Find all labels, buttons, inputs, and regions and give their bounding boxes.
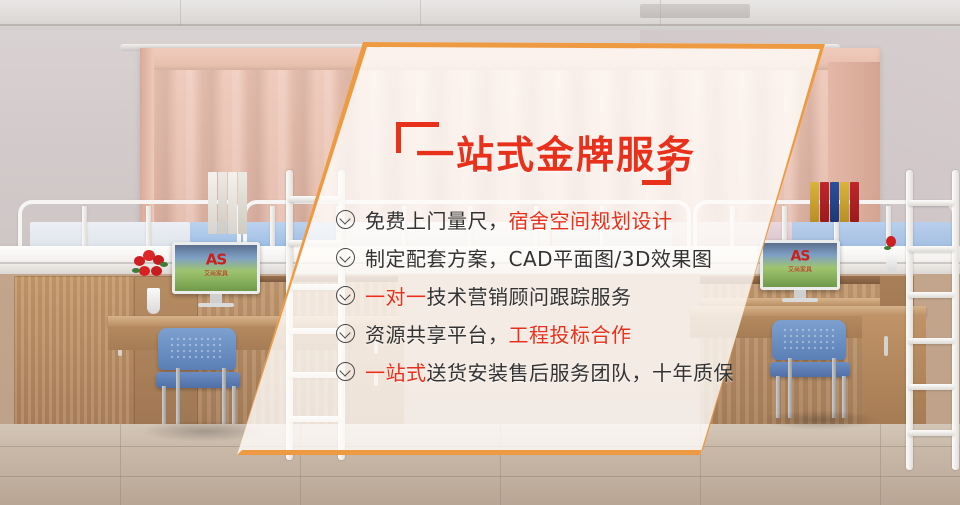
list-item-plain-prefix: 免费上门量尺， <box>365 209 509 233</box>
list-item-plain-prefix: 制定配套方案，CAD平面图/3D效果图 <box>365 247 712 271</box>
page-title: 一站式金牌服务 <box>416 124 696 179</box>
list-item-highlight: 宿舍空间规划设计 <box>509 209 673 233</box>
list-item-text: 制定配套方案，CAD平面图/3D效果图 <box>365 243 712 272</box>
list-item-text: 一站式送货安装售后服务团队，十年质保 <box>365 357 734 386</box>
list-item: 免费上门量尺，宿舍空间规划设计 <box>336 200 756 238</box>
chevron-down-circle-icon <box>336 248 355 267</box>
list-item: 资源共享平台，工程投标合作 <box>336 314 756 352</box>
list-item-highlight: 一站式 <box>365 361 427 385</box>
service-list: 免费上门量尺，宿舍空间规划设计 制定配套方案，CAD平面图/3D效果图 一对一技… <box>336 200 756 390</box>
promo-banner: AS 艾尚家具 <box>0 0 960 505</box>
list-item-text: 一对一技术营销顾问跟踪服务 <box>365 281 632 310</box>
list-item-highlight: 工程投标合作 <box>509 323 632 347</box>
chevron-down-circle-icon <box>336 286 355 305</box>
title-block: 一站式金牌服务 <box>396 122 676 186</box>
list-item: 一站式送货安装售后服务团队，十年质保 <box>336 352 756 390</box>
list-item-plain-suffix: 技术营销顾问跟踪服务 <box>427 285 632 309</box>
list-item-text: 资源共享平台，工程投标合作 <box>365 319 632 348</box>
list-item: 一对一技术营销顾问跟踪服务 <box>336 276 756 314</box>
list-item-plain-prefix: 资源共享平台， <box>365 323 509 347</box>
chevron-down-circle-icon <box>336 324 355 343</box>
chevron-down-circle-icon <box>336 210 355 229</box>
banner-content: 一站式金牌服务 免费上门量尺，宿舍空间规划设计 制定配套方案，CAD平面图/3D… <box>0 0 960 505</box>
chevron-down-circle-icon <box>336 362 355 381</box>
list-item: 制定配套方案，CAD平面图/3D效果图 <box>336 238 756 276</box>
list-item-text: 免费上门量尺，宿舍空间规划设计 <box>365 205 673 234</box>
list-item-highlight: 一对一 <box>365 285 427 309</box>
list-item-plain-suffix: 送货安装售后服务团队，十年质保 <box>427 361 735 385</box>
